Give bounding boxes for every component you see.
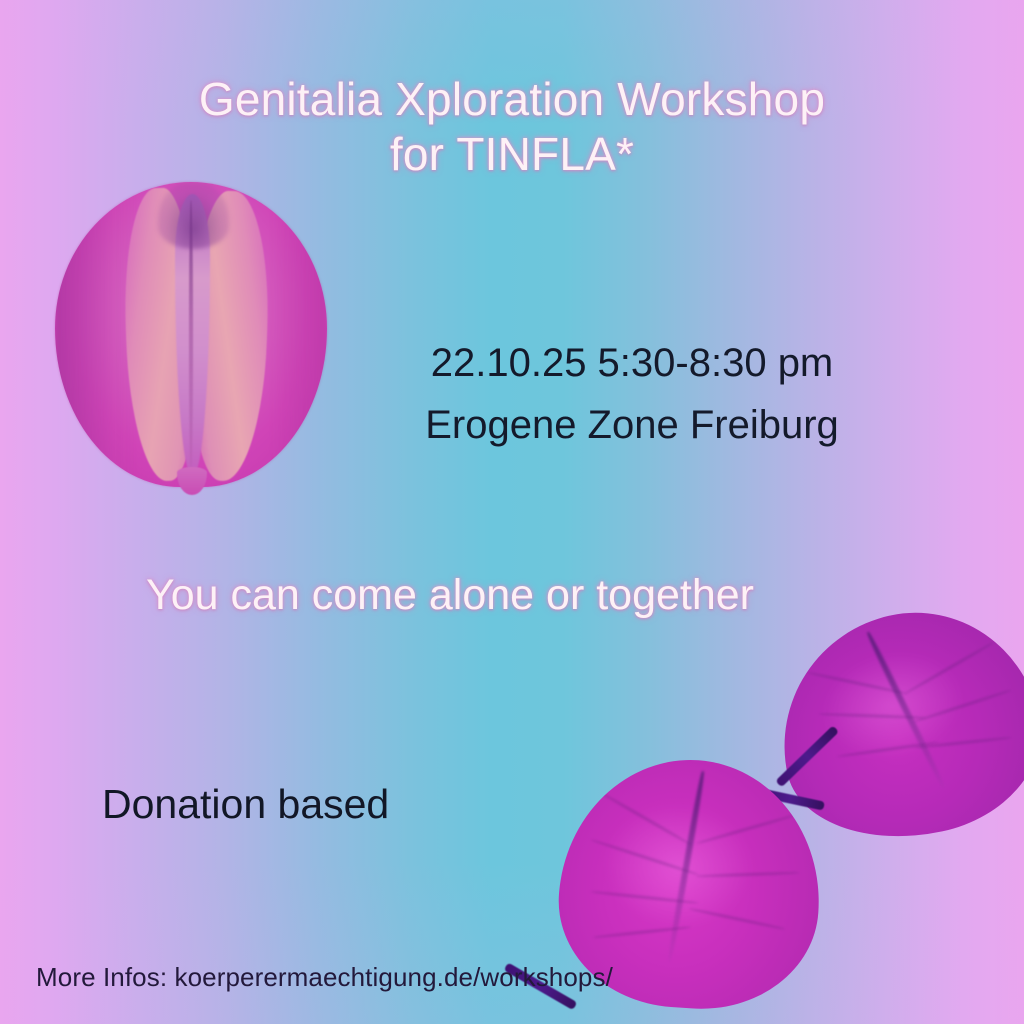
pricing-note: Donation based [102, 782, 389, 827]
fruit-top-shadow [158, 182, 229, 249]
pink-fruit-vulva-image [55, 182, 327, 487]
fruit-bottom-tip [177, 467, 207, 494]
fruit-body [55, 182, 327, 487]
workshop-poster: Genitalia Xploration Workshop for TINFLA… [0, 0, 1024, 1024]
leaf-highlight [813, 639, 974, 773]
more-infos-url: More Infos: koerperermaechtigung.de/work… [36, 962, 613, 993]
event-details: 22.10.25 5:30-8:30 pm Erogene Zone Freib… [300, 332, 964, 456]
fruit-left-shading [55, 182, 137, 487]
page-title: Genitalia Xploration Workshop for TINFLA… [0, 72, 1024, 182]
tagline: You can come alone or together [40, 572, 860, 619]
